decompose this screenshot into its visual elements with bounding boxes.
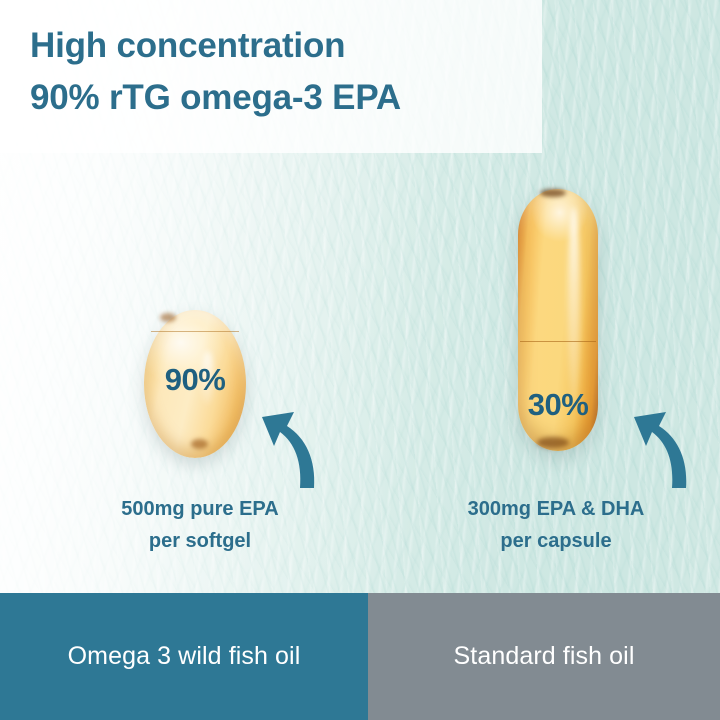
- softgel-blemish-bottom: [191, 439, 208, 449]
- product-bar-standard: Standard fish oil: [368, 593, 720, 720]
- softgel-seam-line: [151, 331, 239, 332]
- concentration-label-right: 30%: [518, 387, 598, 423]
- concentration-label-left: 90%: [144, 362, 246, 398]
- product-caption-left: 500mg pure EPA per softgel: [50, 493, 350, 557]
- curved-arrow-up-left-icon: [624, 400, 698, 490]
- capsule-seam-line: [520, 341, 595, 342]
- product-bar-label-omega3: Omega 3 wild fish oil: [68, 642, 301, 671]
- page-title: High concentration 90% rTG omega-3 EPA: [30, 20, 530, 124]
- softgel-capsule-left: 90%: [144, 310, 246, 458]
- product-bar-omega3: Omega 3 wild fish oil: [0, 593, 368, 720]
- standard-capsule-right: 30%: [518, 189, 598, 451]
- product-bar-label-standard: Standard fish oil: [454, 642, 635, 671]
- product-caption-right: 300mg EPA & DHA per capsule: [406, 493, 706, 557]
- capsule-highlight: [568, 207, 580, 407]
- product-comparison-graphic: High concentration 90% rTG omega-3 EPA 9…: [0, 0, 720, 720]
- curved-arrow-up-left-icon: [252, 400, 326, 490]
